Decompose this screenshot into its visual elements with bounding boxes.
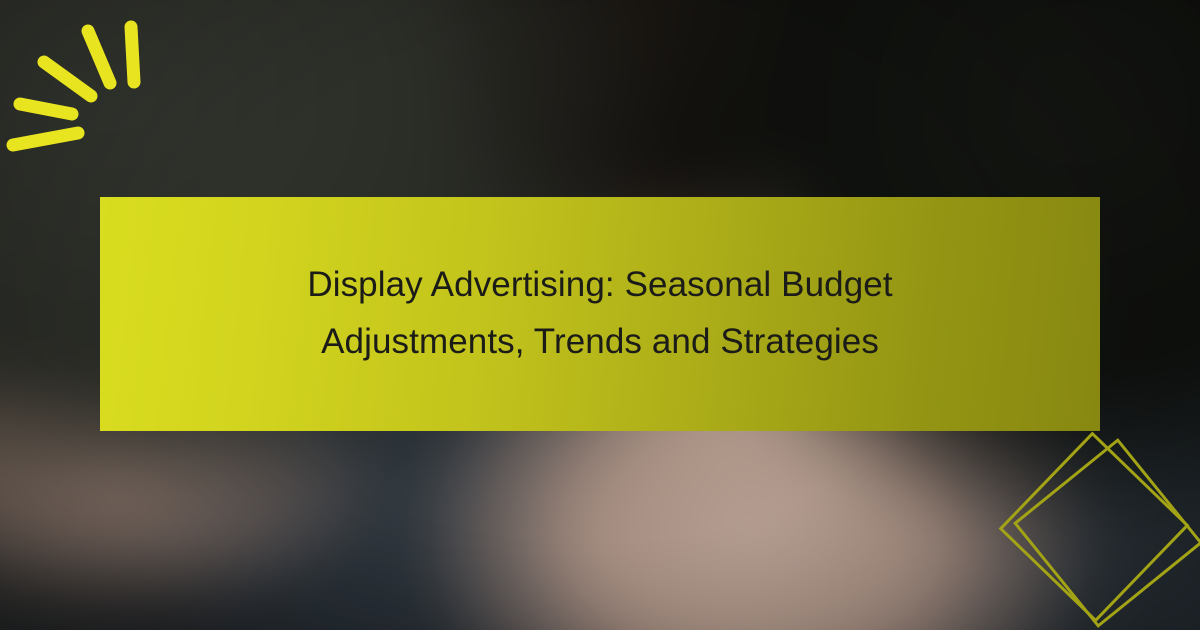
sparkle-ray-2: [88, 31, 110, 83]
sparkle-burst-icon: [0, 0, 175, 170]
page-title: Display Advertising: Seasonal Budget Adj…: [190, 257, 1010, 370]
sparkle-ray-3: [44, 62, 91, 96]
rotated-square-1: [1001, 434, 1188, 621]
rotated-squares-icon: [976, 415, 1200, 630]
rotated-square-2: [1015, 440, 1200, 626]
title-banner: Display Advertising: Seasonal Budget Adj…: [100, 197, 1100, 431]
sparkle-ray-5: [13, 133, 78, 145]
sparkle-ray-1: [131, 27, 134, 82]
banner-canvas: Display Advertising: Seasonal Budget Adj…: [0, 0, 1200, 630]
sparkle-ray-4: [20, 104, 72, 114]
